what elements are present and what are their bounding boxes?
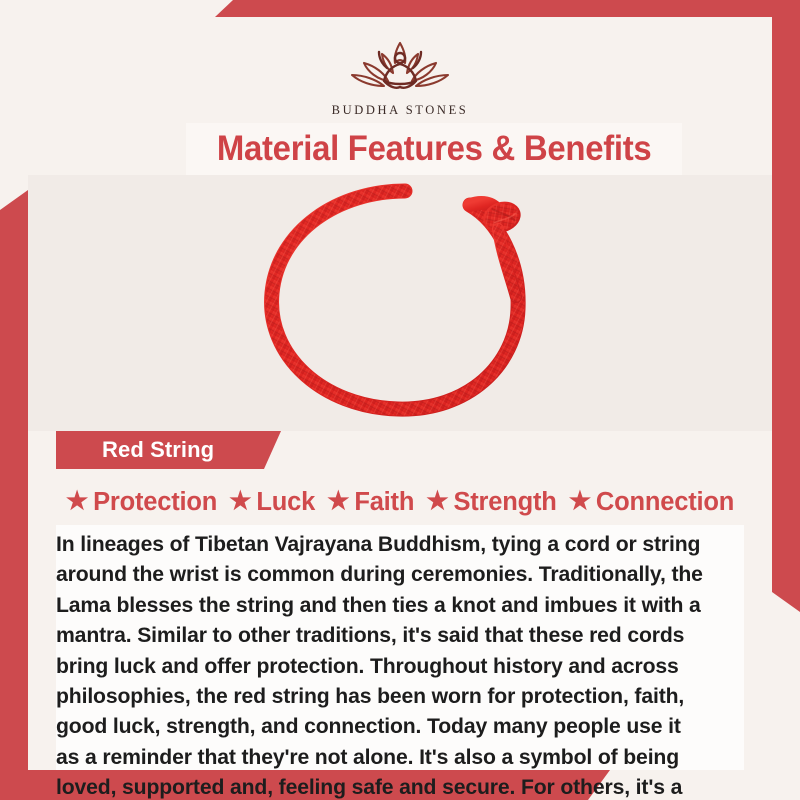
feature-item-luck: ★Luck — [223, 488, 321, 517]
description-text: In lineages of Tibetan Vajrayana Buddhis… — [56, 529, 708, 800]
feature-label: Luck — [256, 488, 315, 517]
star-icon: ★ — [229, 489, 251, 514]
infographic-card: BUDDHA STONES Material Features & Benefi… — [0, 0, 800, 800]
feature-label: Strength — [453, 488, 556, 517]
star-icon: ★ — [66, 489, 88, 514]
decor-bar-right — [772, 0, 800, 612]
feature-label: Protection — [93, 488, 217, 517]
feature-item-protection: ★Protection — [60, 488, 223, 517]
description-panel: In lineages of Tibetan Vajrayana Buddhis… — [56, 525, 744, 770]
product-name: Red String — [56, 437, 214, 463]
feature-item-faith: ★Faith — [321, 488, 420, 517]
feature-item-connection: ★Connection — [563, 488, 740, 517]
red-braided-string-bracelet-image — [230, 175, 570, 431]
star-icon: ★ — [327, 489, 349, 514]
product-photo — [28, 175, 772, 431]
decor-bar-left — [0, 190, 28, 800]
feature-label: Connection — [596, 488, 734, 517]
star-icon: ★ — [569, 489, 591, 514]
brand-logo: BUDDHA STONES — [28, 37, 772, 118]
feature-label: Faith — [354, 488, 414, 517]
feature-item-strength: ★Strength — [420, 488, 562, 517]
page-title: Material Features & Benefits — [217, 129, 652, 169]
brand-wordmark: BUDDHA STONES — [332, 103, 469, 118]
feature-list: ★Protection ★Luck ★Faith ★Strength ★Conn… — [56, 482, 744, 522]
star-icon: ★ — [426, 489, 448, 514]
card-canvas: BUDDHA STONES Material Features & Benefi… — [28, 17, 772, 770]
product-name-banner: Red String — [56, 431, 281, 469]
lotus-meditation-figure-icon — [330, 37, 470, 99]
title-band: Material Features & Benefits — [186, 123, 682, 175]
decor-band-top — [215, 0, 800, 17]
